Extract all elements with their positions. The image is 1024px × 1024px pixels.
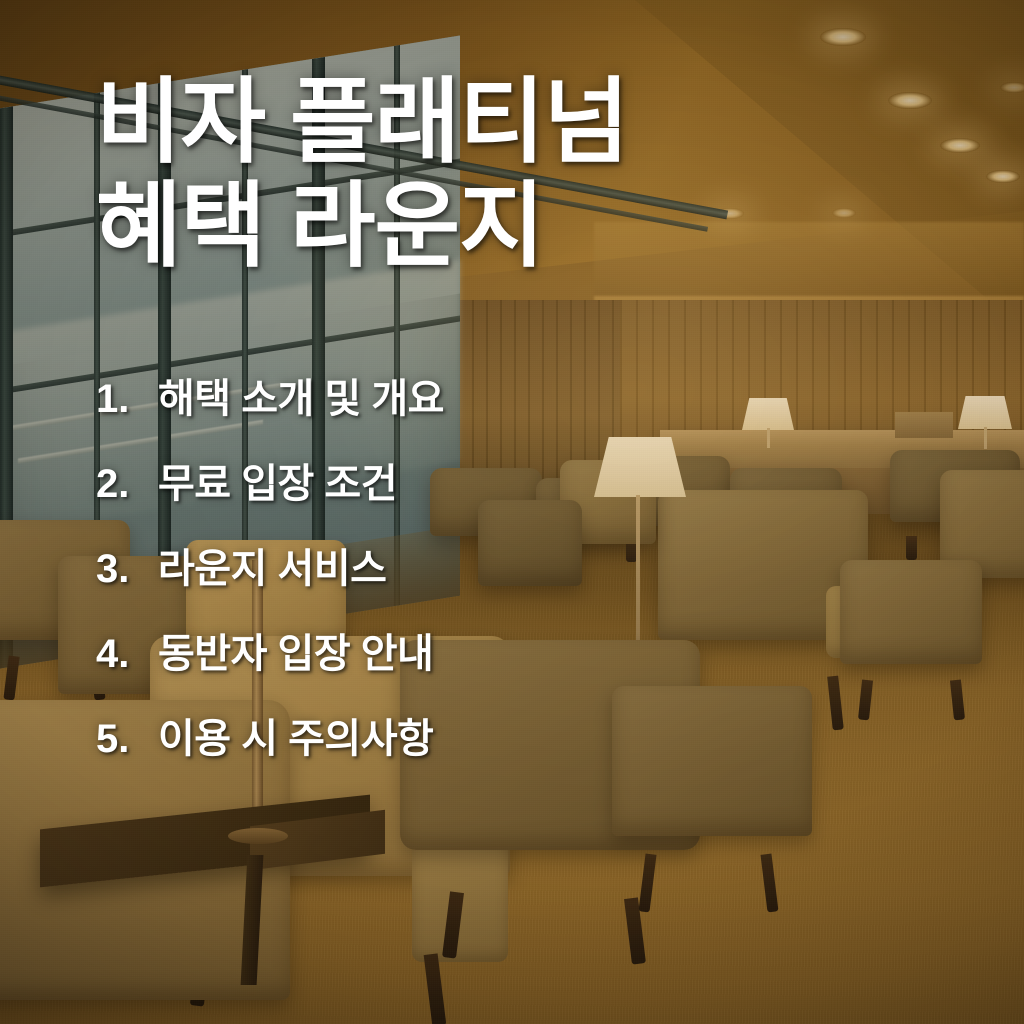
- page-title: 비자 플래티넘 혜택 라운지: [96, 70, 1024, 278]
- list-item: 2. 무료 입장 조건: [96, 451, 1024, 509]
- list-item-label: 동반자 입장 안내: [158, 621, 433, 679]
- list-item: 4. 동반자 입장 안내: [96, 621, 1024, 679]
- text-overlay: 비자 플래티넘 혜택 라운지 1. 해택 소개 및 개요 2. 무료 입장 조건…: [0, 0, 1024, 1024]
- list-item-label: 이용 시 주의사항: [158, 706, 433, 764]
- lounge-benefits-card: 비자 플래티넘 혜택 라운지 1. 해택 소개 및 개요 2. 무료 입장 조건…: [0, 0, 1024, 1024]
- list-item-label: 무료 입장 조건: [158, 451, 397, 509]
- list-item-number: 2.: [96, 462, 158, 507]
- list-item-label: 해택 소개 및 개요: [158, 366, 444, 424]
- list-item-number: 5.: [96, 717, 158, 762]
- list-item: 1. 해택 소개 및 개요: [96, 366, 1024, 424]
- list-item-number: 3.: [96, 547, 158, 592]
- list-item-label: 라운지 서비스: [158, 536, 386, 594]
- list-item: 5. 이용 시 주의사항: [96, 706, 1024, 764]
- list-item-number: 1.: [96, 377, 158, 422]
- list-item: 3. 라운지 서비스: [96, 536, 1024, 594]
- agenda-list: 1. 해택 소개 및 개요 2. 무료 입장 조건 3. 라운지 서비스 4. …: [96, 366, 1024, 764]
- list-item-number: 4.: [96, 632, 158, 677]
